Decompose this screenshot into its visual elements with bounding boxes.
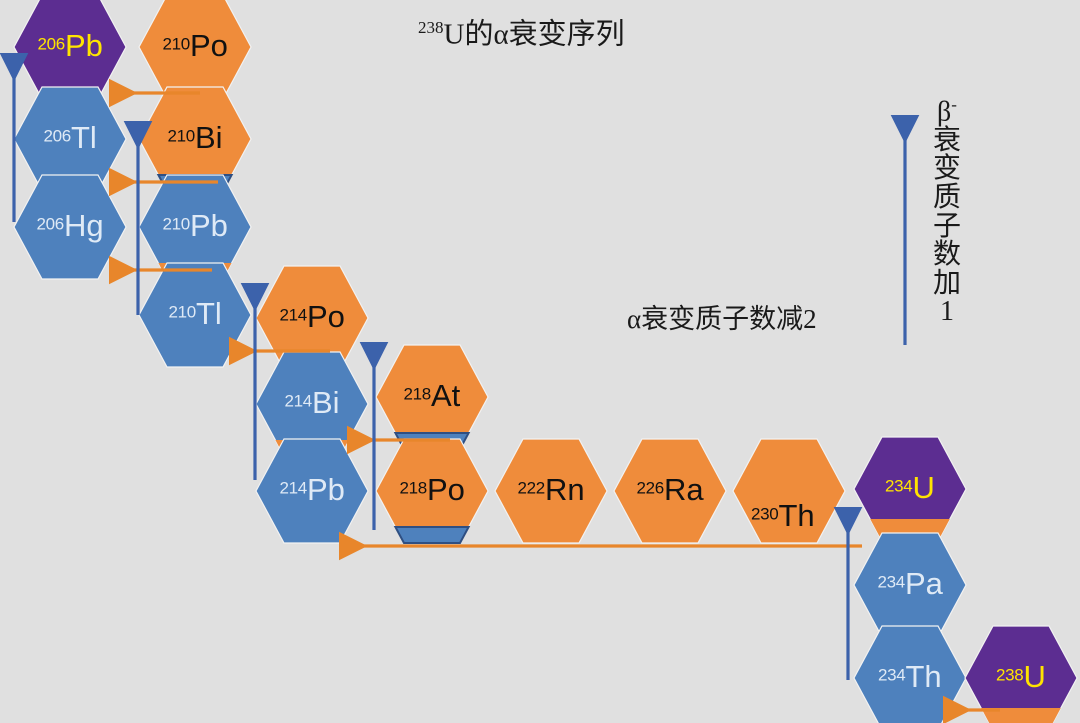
hexagon-body: [256, 439, 368, 543]
decay-band-po218: [395, 527, 468, 543]
hexagon-body: [14, 0, 126, 99]
nuclide-pb214: [256, 439, 368, 543]
decay-scene-svg: [0, 0, 1080, 723]
nuclide-at218: [376, 345, 488, 449]
nuclide-po210: [139, 0, 251, 99]
nuclide-u234: [854, 437, 966, 541]
nuclide-pa234: [854, 533, 966, 637]
nuclide-th230: [733, 439, 845, 543]
legend-alpha-label: α衰变质子数减2: [627, 297, 817, 336]
hexagon-body: [14, 175, 126, 279]
legend-beta-superscript: -: [951, 95, 957, 114]
hexagon-body: [733, 439, 845, 543]
nuclide-pb206: [14, 0, 126, 99]
legend-beta-text: 衰变质子数加1: [933, 125, 961, 327]
hexagon-layer: [14, 0, 1077, 723]
hexagon-body: [139, 0, 251, 99]
nuclide-po218: [376, 439, 488, 543]
page-title: 238U的α衰变序列: [418, 19, 625, 50]
nuclide-ra226: [614, 439, 726, 543]
legend-beta-label: β-衰变质子数加1: [928, 96, 966, 327]
decay-chain-diagram: 238U的α衰变序列 α衰变质子数减2 β-衰变质子数加1 206Pb206Tl…: [0, 0, 1080, 723]
hexagon-body: [614, 439, 726, 543]
hexagon-body: [854, 533, 966, 637]
title-mass-number: 238: [418, 18, 444, 37]
nuclide-rn222: [495, 439, 607, 543]
legend-beta-symbol: β: [937, 96, 951, 127]
title-text: U的α衰变序列: [444, 19, 625, 51]
hexagon-body: [495, 439, 607, 543]
nuclide-hg206: [14, 175, 126, 279]
